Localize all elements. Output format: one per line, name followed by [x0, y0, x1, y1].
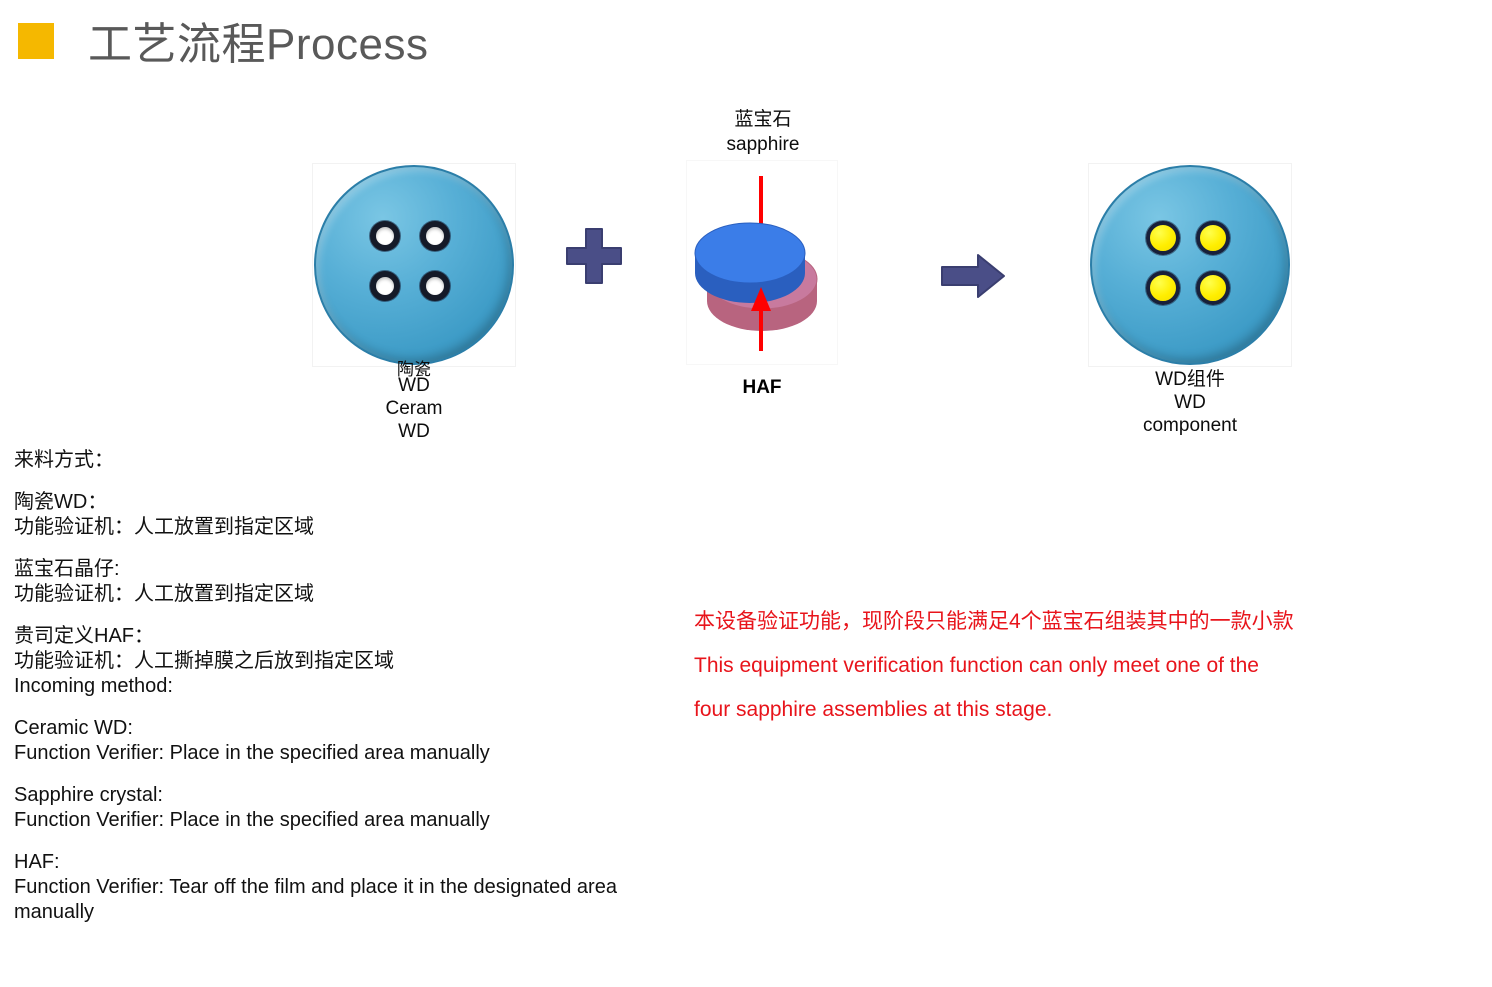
notes-en-sapphire-title: Sapphire crystal:: [14, 783, 714, 808]
wd-component-caption-line-3: component: [1090, 414, 1290, 437]
ceramic-wd-hole-2: [420, 221, 450, 251]
notes-cn-block-ceramic: 陶瓷WD： 功能验证机：人工放置到指定区域: [14, 490, 714, 540]
wd-component-image-frame: [1088, 163, 1292, 367]
notes-cn-block-sapphire: 蓝宝石晶仔: 功能验证机：人工放置到指定区域: [14, 557, 714, 607]
haf-sapphire-stack-graphic: [687, 161, 837, 364]
ceramic-wd-caption-line-1: WD: [314, 374, 514, 397]
notes-cn-ceramic-detail: 功能验证机：人工放置到指定区域: [14, 515, 714, 540]
wd-component-sapphire-2: [1196, 221, 1230, 255]
notes-en-haf-detail: Function Verifier: Tear off the film and…: [14, 875, 714, 925]
notes-en-block-haf: HAF: Function Verifier: Tear off the fil…: [14, 850, 714, 925]
notes-en-block-ceramic: Ceramic WD: Function Verifier: Place in …: [14, 716, 714, 766]
notes-en-heading: Incoming method:: [14, 674, 714, 699]
notes-cn-block-haf: 贵司定义HAF： 功能验证机：人工撕掉膜之后放到指定区域: [14, 624, 714, 674]
sapphire-label-cn: 蓝宝石: [683, 108, 843, 132]
notes-en-sapphire-detail: Function Verifier: Place in the specifie…: [14, 808, 714, 833]
notes-cn-ceramic-title: 陶瓷WD：: [14, 490, 714, 515]
wd-component-disc: [1090, 165, 1290, 365]
ceramic-wd-disc: [314, 165, 514, 365]
notes-en-heading-block: Incoming method:: [14, 674, 714, 699]
notes-en-haf-title: HAF:: [14, 850, 714, 875]
notes-en-ceramic-detail: Function Verifier: Place in the specifie…: [14, 741, 714, 766]
sapphire-label-en: sapphire: [683, 133, 843, 157]
red-note-line-cn: 本设备验证功能，现阶段只能满足4个蓝宝石组装其中的一款小款: [694, 600, 1484, 644]
haf-stack-image-frame: [686, 160, 838, 365]
notes-cn-sapphire-detail: 功能验证机：人工放置到指定区域: [14, 582, 714, 607]
wd-component-caption-line-2: WD: [1090, 391, 1290, 414]
red-warning-note: 本设备验证功能，现阶段只能满足4个蓝宝石组装其中的一款小款 This equip…: [694, 600, 1484, 732]
ceramic-wd-caption-line-2: Ceram: [314, 397, 514, 420]
ceramic-wd-hole-4: [420, 271, 450, 301]
notes-cn-heading: 来料方式：: [14, 448, 714, 473]
process-flow-diagram: 陶瓷 WD Ceram WD 蓝宝石 sapphire HAF: [0, 0, 1492, 470]
ceramic-wd-caption-line-3: WD: [314, 420, 514, 443]
ceramic-wd-hole-1: [370, 221, 400, 251]
incoming-method-notes: 来料方式： 陶瓷WD： 功能验证机：人工放置到指定区域 蓝宝石晶仔: 功能验证机…: [14, 448, 714, 925]
ceramic-wd-hole-3: [370, 271, 400, 301]
plus-operator-icon: [563, 225, 625, 287]
haf-label: HAF: [686, 377, 838, 399]
ceramic-wd-image-frame: [312, 163, 516, 367]
notes-cn-haf-detail: 功能验证机：人工撕掉膜之后放到指定区域: [14, 649, 714, 674]
wd-component-sapphire-4: [1196, 271, 1230, 305]
red-note-line-en-2: four sapphire assemblies at this stage.: [694, 688, 1484, 732]
notes-en-block-sapphire: Sapphire crystal: Function Verifier: Pla…: [14, 783, 714, 833]
notes-en-ceramic-title: Ceramic WD:: [14, 716, 714, 741]
notes-cn-heading-block: 来料方式：: [14, 448, 714, 473]
notes-cn-sapphire-title: 蓝宝石晶仔:: [14, 557, 714, 582]
notes-cn-haf-title: 贵司定义HAF：: [14, 624, 714, 649]
arrow-right-icon: [940, 252, 1006, 300]
wd-component-sapphire-1: [1146, 221, 1180, 255]
red-note-line-en-1: This equipment verification function can…: [694, 644, 1484, 688]
wd-component-sapphire-3: [1146, 271, 1180, 305]
wd-component-caption-line-1: WD组件: [1090, 368, 1290, 391]
